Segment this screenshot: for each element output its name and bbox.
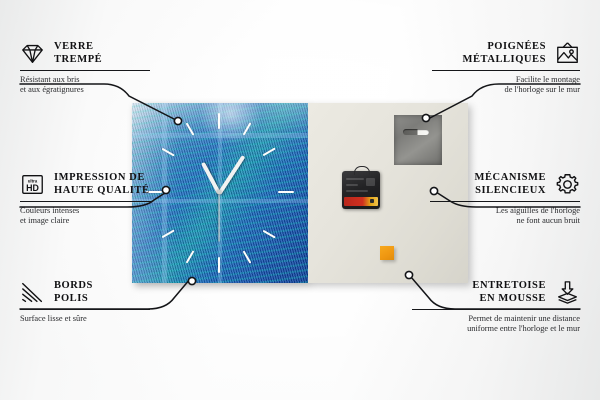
foam-spacer-icon — [555, 281, 580, 304]
feature-desc-line-2: de l'horloge sur le mur — [432, 85, 580, 95]
feature-title: IMPRESSION DE HAUTE QUALITÉ — [54, 172, 150, 197]
feature-desc-line-1: Couleurs intenses — [20, 206, 152, 216]
feature-header: BORDS POLIS — [20, 280, 150, 305]
feature-desc-line-2: et image claire — [20, 216, 152, 226]
ultra-hd-icon: ultra HD — [20, 173, 45, 196]
feature-desc-line-1: Surface lisse et sûre — [20, 314, 150, 324]
feature-desc-line-2: ne font aucun bruit — [430, 216, 580, 226]
feature-verre-trempe: VERRE TREMPÉ Résistant aux bris et aux é… — [20, 41, 150, 95]
divider — [432, 70, 580, 71]
feature-desc-line-1: Facilite le montage — [432, 75, 580, 85]
divider — [430, 201, 580, 202]
feature-desc-line-1: Permet de maintenir une distance — [412, 314, 580, 324]
feature-header: POIGNÉES MÉTALLIQUES — [432, 41, 580, 66]
svg-text:HD: HD — [26, 183, 39, 193]
feature-header: ENTRETOISE EN MOUSSE — [412, 280, 580, 305]
feature-header: ultra HD IMPRESSION DE HAUTE QUALITÉ — [20, 172, 152, 197]
divider — [20, 70, 150, 71]
feature-poignees-metalliques: POIGNÉES MÉTALLIQUES Facilite le montage… — [432, 41, 580, 95]
divider — [20, 201, 152, 202]
connector-dot-verre-trempe — [174, 117, 181, 124]
infographic-canvas: VERRE TREMPÉ Résistant aux bris et aux é… — [0, 0, 600, 400]
feature-title: POIGNÉES MÉTALLIQUES — [463, 41, 546, 66]
polished-edge-icon — [20, 281, 45, 304]
feature-desc-line-2: uniforme entre l'horloge et le mur — [412, 324, 580, 334]
feature-title: MÉCANISME SILENCIEUX — [475, 172, 546, 197]
feature-entretoise-mousse: ENTRETOISE EN MOUSSE Permet de maintenir… — [412, 280, 580, 334]
connector-dot-impression-hd — [162, 186, 169, 193]
feature-header: MÉCANISME SILENCIEUX — [430, 172, 580, 197]
feature-header: VERRE TREMPÉ — [20, 41, 150, 66]
diamond-icon — [20, 42, 45, 65]
connector-dot-poignees — [422, 114, 429, 121]
connector-dot-bords-polis — [188, 277, 195, 284]
gear-icon — [555, 173, 580, 196]
feature-mecanisme-silencieux: MÉCANISME SILENCIEUX Les aiguilles de l'… — [430, 172, 580, 226]
feature-desc-line-1: Résistant aux bris — [20, 75, 150, 85]
feature-title: ENTRETOISE EN MOUSSE — [472, 280, 546, 305]
feature-title: VERRE TREMPÉ — [54, 41, 102, 66]
divider — [412, 309, 580, 310]
feature-impression-hd: ultra HD IMPRESSION DE HAUTE QUALITÉ Cou… — [20, 172, 152, 226]
feature-title: BORDS POLIS — [54, 280, 93, 305]
feature-bords-polis: BORDS POLIS Surface lisse et sûre — [20, 280, 150, 324]
picture-frame-icon — [555, 42, 580, 65]
feature-desc-line-2: et aux égratignures — [20, 85, 150, 95]
divider — [20, 309, 150, 310]
feature-desc-line-1: Les aiguilles de l'horloge — [430, 206, 580, 216]
connector-dot-entretoise — [405, 271, 412, 278]
